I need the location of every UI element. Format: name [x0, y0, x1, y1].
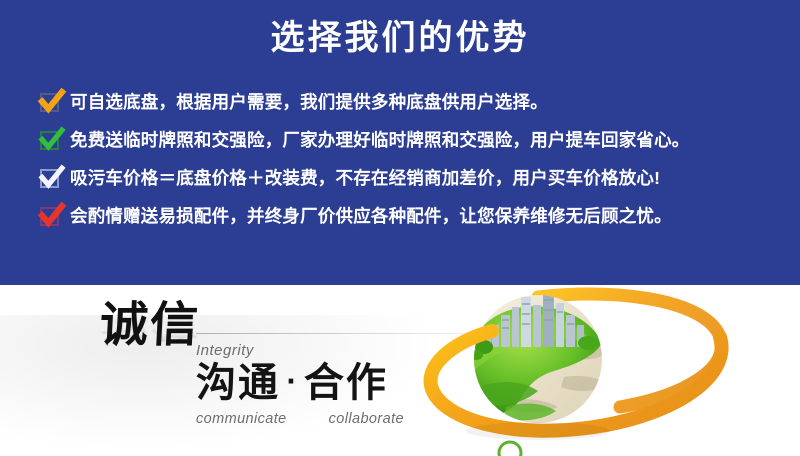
green-globe-city-icon [388, 285, 800, 456]
list-item-label: 免费送临时牌照和交强险，厂家办理好临时牌照和交强险，用户提车回家省心。 [70, 126, 690, 154]
list-item-label: 可自选底盘，根据用户需要，我们提供多种底盘供用户选择。 [70, 88, 548, 116]
banner-subline-cn-right: 合作 [304, 360, 388, 406]
page-title: 选择我们的优势 [0, 16, 800, 60]
list-item-label: 吸污车价格＝底盘价格＋改装费，不存在经销商加差价，用户买车价格放心! [70, 164, 660, 192]
advantages-list: 可自选底盘，根据用户需要，我们提供多种底盘供用户选择。 免费送临时牌照和交强险，… [40, 88, 780, 240]
checkbox-checked-icon [40, 131, 59, 150]
list-item-label: 会酌情赠送易损配件，并终身厂价供应各种配件，让您保养维修无后顾之忧。 [70, 202, 672, 230]
checkbox-checked-icon [40, 207, 59, 226]
integrity-banner: 诚信 诚信 Integrity 沟通·合作 communicate collab… [0, 285, 800, 456]
banner-headline-cn: 诚信 [99, 298, 202, 352]
list-item: 会酌情赠送易损配件，并终身厂价供应各种配件，让您保养维修无后顾之忧。 [40, 202, 780, 240]
banner-headline-en: Integrity [196, 342, 254, 359]
banner-subline-separator: · [280, 367, 304, 397]
list-item: 可自选底盘，根据用户需要，我们提供多种底盘供用户选择。 [40, 88, 780, 126]
list-item: 吸污车价格＝底盘价格＋改装费，不存在经销商加差价，用户买车价格放心! [40, 164, 780, 202]
checkbox-checked-icon [40, 93, 59, 112]
promo-page: 选择我们的优势 可自选底盘，根据用户需要，我们提供多种底盘供用户选择。 免费送临… [0, 0, 800, 456]
banner-subline-en-left: communicate [196, 411, 287, 427]
banner-subline-cn-left: 沟通 [196, 360, 280, 406]
checkbox-checked-icon [40, 169, 59, 188]
list-item: 免费送临时牌照和交强险，厂家办理好临时牌照和交强险，用户提车回家省心。 [40, 126, 780, 164]
advantages-panel: 选择我们的优势 可自选底盘，根据用户需要，我们提供多种底盘供用户选择。 免费送临… [0, 0, 800, 285]
banner-subline-cn: 沟通·合作 [196, 358, 388, 407]
